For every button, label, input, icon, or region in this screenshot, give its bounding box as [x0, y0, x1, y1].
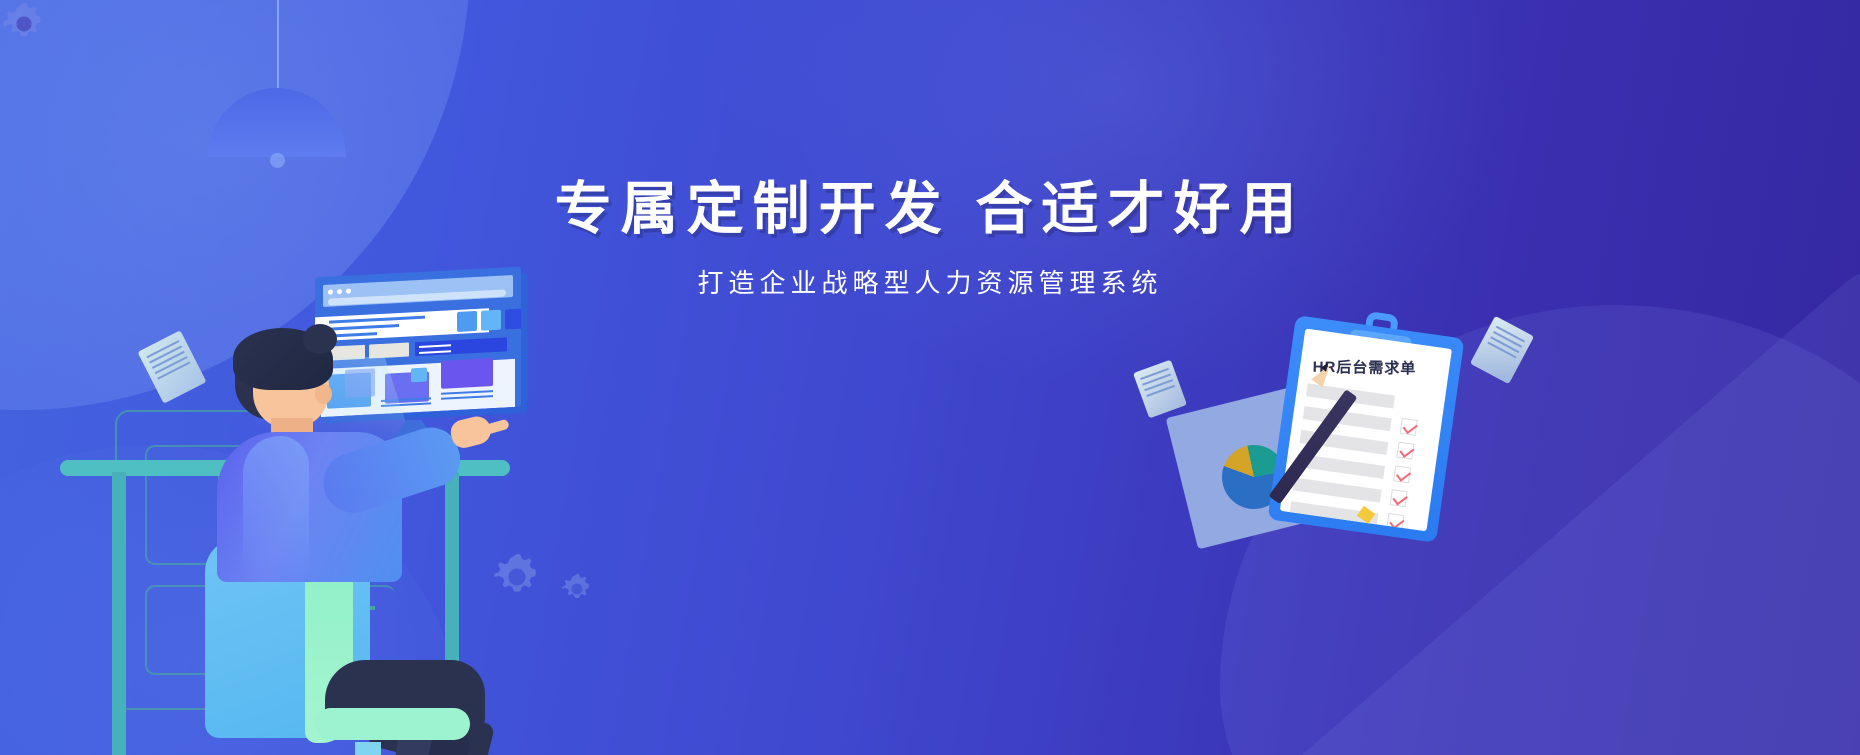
hair-bun: [303, 324, 337, 354]
desk-leg-left: [112, 472, 126, 755]
lamp-cord: [277, 0, 279, 92]
check-icon: [1393, 465, 1411, 483]
content-tile-indigo: [505, 308, 521, 329]
check-icon: [1400, 418, 1418, 436]
chair-post: [355, 742, 381, 755]
lamp-shade: [208, 88, 346, 157]
lamp-bulb: [270, 153, 285, 168]
torso-highlight: [243, 436, 309, 582]
pendant-lamp-icon: [208, 0, 348, 165]
ear: [315, 384, 332, 404]
check-icon: [1390, 489, 1408, 507]
clipboard-title: HR后台需求单: [1313, 356, 1441, 379]
clipboard-illustration: HR后台需求单: [1180, 300, 1480, 600]
gear-small-icon: [560, 572, 594, 606]
person-illustration: [175, 310, 475, 740]
content-tile-lightblue: [481, 310, 501, 331]
clipboard: HR后台需求单: [1268, 301, 1467, 543]
chair-seat: [315, 708, 470, 740]
clipboard-page: HR后台需求单: [1280, 329, 1452, 532]
hero-banner: 专属定制开发 合适才好用 打造企业战略型人力资源管理系统: [0, 0, 1860, 755]
desk-scene-illustration: [60, 250, 680, 755]
page-title: 专属定制开发 合适才好用: [0, 176, 1860, 243]
gear-large-icon: [490, 550, 544, 604]
check-icon: [1396, 442, 1414, 460]
checklist-bar: [1293, 477, 1382, 502]
